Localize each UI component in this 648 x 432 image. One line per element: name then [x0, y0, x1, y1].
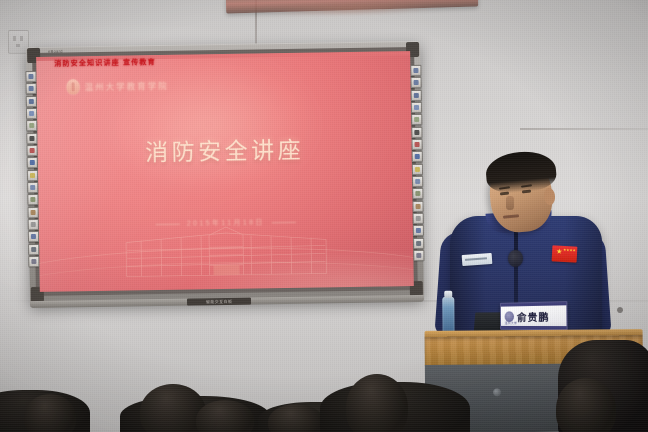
tool-page-new-icon[interactable]: [26, 96, 37, 107]
tool-shapes-icon[interactable]: [27, 182, 38, 193]
school-emblem-icon: [67, 79, 80, 94]
tool-keyboard-icon[interactable]: [28, 219, 39, 230]
tool-screenshot-icon[interactable]: [27, 194, 38, 205]
lecturer-nose: [506, 196, 514, 210]
china-flag-patch-icon: ★ ★★★★: [552, 245, 578, 262]
tool-highlighter-icon[interactable]: [412, 164, 423, 175]
wall-joint-right: [520, 128, 648, 130]
slide-institution-name: 温州大学教育学院: [85, 79, 169, 92]
uniform-name-tag-icon: [462, 253, 493, 266]
slide-subtitle-rule-left: [156, 223, 180, 224]
tool-pen-blue-icon[interactable]: [27, 157, 38, 168]
tool-help-icon[interactable]: [28, 256, 39, 267]
nameplate-org: 温州大学: [505, 321, 517, 325]
lecturer-ear: [543, 188, 555, 206]
tool-spotlight-icon[interactable]: [28, 207, 39, 218]
tool-settings-icon[interactable]: [413, 238, 424, 249]
water-bottle-cap: [444, 291, 452, 298]
whiteboard-tray-label: 智能交互白板: [187, 298, 251, 306]
tool-pen-black-icon[interactable]: [26, 133, 37, 144]
slide-institution-logo: 温州大学教育学院: [67, 78, 169, 95]
tool-page-up-icon[interactable]: [25, 71, 36, 82]
tool-pen-blue-icon[interactable]: [412, 151, 423, 162]
podium-wood-panel: [425, 335, 643, 366]
tool-eraser-icon[interactable]: [411, 114, 422, 125]
tool-save-icon[interactable]: [413, 225, 424, 236]
tool-page-up-icon[interactable]: [410, 65, 421, 76]
podium-body-panel: [425, 364, 572, 432]
tool-highlighter-icon[interactable]: [27, 170, 38, 181]
projected-slide: 消防安全知识讲座 宣传教育 温州大学教育学院 消防安全讲座 2015年11月18…: [36, 51, 414, 292]
tool-keyboard-icon[interactable]: [413, 213, 424, 224]
slide-header-red-text: 消防安全知识讲座 宣传教育: [54, 57, 156, 69]
projector-hotspot: [96, 52, 323, 197]
whiteboard-brand-label: eBoard: [48, 49, 63, 54]
tool-select-icon[interactable]: [26, 108, 37, 119]
torso-shadow-right: [564, 216, 602, 344]
flag-large-star: ★: [556, 249, 563, 256]
tool-page-new-icon[interactable]: [411, 90, 422, 101]
fire-service-badge-icon: [508, 250, 523, 267]
tool-save-icon[interactable]: [28, 231, 39, 242]
wall-fixture-dot: [617, 307, 623, 313]
tool-select-icon[interactable]: [411, 102, 422, 113]
slide-decorative-swoosh: [36, 225, 414, 291]
tool-shapes-icon[interactable]: [412, 176, 423, 187]
tool-settings-icon[interactable]: [28, 244, 39, 255]
tool-screenshot-icon[interactable]: [412, 188, 423, 199]
flag-small-stars: ★★★★: [563, 248, 576, 253]
photo-scene: eBoard 消防安全知识讲座 宣传教育 温州大学教育学院 消防安全讲座 201…: [0, 0, 648, 432]
tool-page-down-icon[interactable]: [411, 77, 422, 88]
water-bottle-icon: [442, 297, 454, 333]
tool-pen-red-icon[interactable]: [411, 139, 422, 150]
tool-help-icon[interactable]: [413, 250, 424, 261]
university-seal-icon: [505, 311, 514, 322]
tool-page-down-icon[interactable]: [26, 83, 37, 94]
tool-eraser-icon[interactable]: [26, 120, 37, 131]
interactive-whiteboard[interactable]: eBoard 消防安全知识讲座 宣传教育 温州大学教育学院 消防安全讲座 201…: [26, 41, 424, 305]
tool-pen-red-icon[interactable]: [27, 145, 38, 156]
podium-lock-icon: [493, 388, 501, 396]
lecture-podium: 俞贵鹏 温州大学: [425, 329, 644, 432]
nameplate-name: 俞贵鹏: [517, 308, 550, 323]
slide-title: 消防安全讲座: [37, 129, 411, 169]
podium-nameplate: 俞贵鹏 温州大学: [500, 301, 568, 330]
tool-pen-black-icon[interactable]: [411, 127, 422, 138]
slide-subtitle-rule-right: [272, 222, 296, 223]
tool-spotlight-icon[interactable]: [412, 201, 423, 212]
